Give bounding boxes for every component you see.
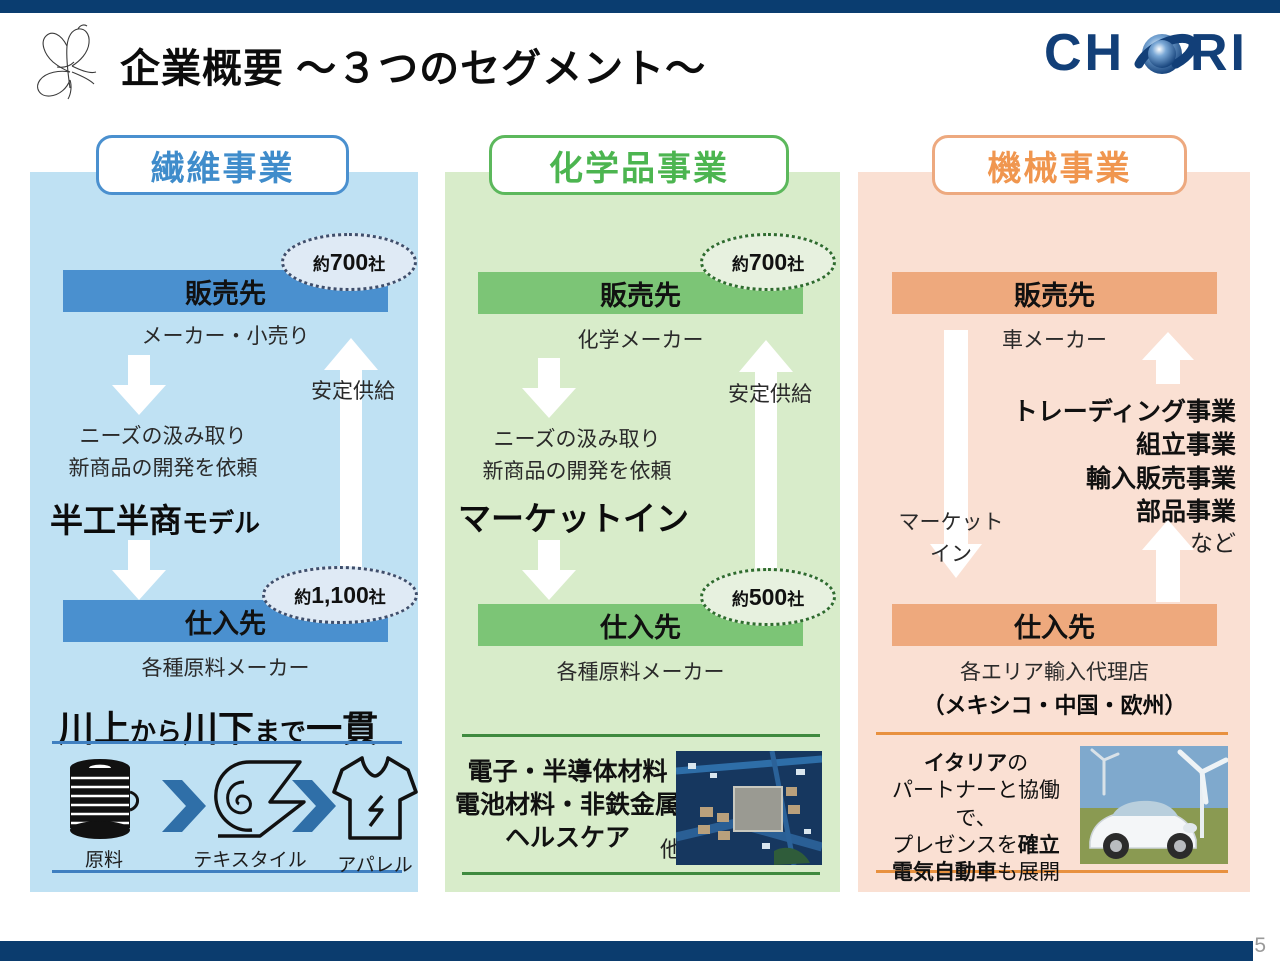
thread-spool-icon <box>62 756 146 847</box>
chemical-down-arrow-bottom <box>518 540 580 602</box>
machinery-rule-top <box>876 732 1228 735</box>
chemical-sales-count: 約700社 <box>700 233 836 291</box>
count-value: 700 <box>749 249 787 276</box>
count-prefix: 約 <box>732 250 749 275</box>
page-number: 5 <box>1254 934 1266 958</box>
chemical-down-arrow-top <box>518 358 580 420</box>
machinery-note: イタリアの パートナーと協働で、 プレゼンスを確立 電気自動車も展開 <box>872 750 1080 886</box>
count-unit: 社 <box>787 250 804 275</box>
count-unit: 社 <box>787 585 804 610</box>
machinery-up-arrow-bottom <box>1140 520 1196 602</box>
count-prefix: 約 <box>294 583 311 608</box>
electric-car-windmill-photo <box>1080 746 1228 864</box>
chemical-supplier-count: 約500社 <box>700 568 836 626</box>
textile-down-arrow-top <box>108 355 170 417</box>
textile-up-note: 安定供給 <box>283 375 423 405</box>
textile-model-main: 半工半商 <box>50 502 182 539</box>
machinery-sales-bar: 販売先 <box>892 272 1217 314</box>
textile-tagline: 川上から川下まで一貫 <box>58 700 378 752</box>
note-strong-3: 電気自動車 <box>892 861 997 884</box>
tshirt-icon <box>330 752 420 849</box>
svg-text:CH: CH <box>1044 26 1125 82</box>
textile-model: 半工半商モデル <box>50 494 260 542</box>
count-value: 700 <box>330 249 368 276</box>
chemical-down-note-1: ニーズの汲み取り <box>452 423 702 453</box>
top-accent-bar <box>0 0 1280 13</box>
chemical-rule-top <box>462 734 820 737</box>
count-prefix: 約 <box>313 250 330 275</box>
count-prefix: 約 <box>732 585 749 610</box>
chemical-supplier-sub: 各種原料メーカー <box>478 656 803 686</box>
note-rest-0: の <box>1007 752 1028 775</box>
chip-chemical: 化学品事業 <box>489 135 789 195</box>
textile-sales-count: 約700社 <box>281 233 417 291</box>
note-strong-0: イタリア <box>924 752 1007 775</box>
flow-label-0: 原料 <box>58 845 150 872</box>
note-rest-3: も展開 <box>997 861 1060 884</box>
svg-text:RI: RI <box>1190 26 1248 82</box>
chip-textile: 繊維事業 <box>96 135 349 195</box>
page-title: 企業概要 ～３つのセグメント～ <box>120 36 706 94</box>
count-value: 500 <box>749 584 787 611</box>
machinery-supplier-sub: 各エリア輸入代理店 <box>892 656 1217 686</box>
textile-supplier-count: 約1,100社 <box>262 566 418 624</box>
textile-down-note-1: ニーズの汲み取り <box>38 420 288 450</box>
textile-rule-top <box>52 741 402 744</box>
count-unit: 社 <box>369 583 386 608</box>
chemical-up-note: 安定供給 <box>700 378 840 408</box>
slide-root: 企業概要 ～３つのセグメント～ CH RI 繊維事業 販売先 メーカー・小売り … <box>0 0 1280 960</box>
textile-down-arrow-bottom <box>108 540 170 602</box>
note-line-2: プレゼンスを確立 <box>872 832 1080 859</box>
note-line-0: イタリアの <box>872 750 1080 777</box>
flow-label-2: アパレル <box>320 850 430 877</box>
note-rest-2: プレゼンスを <box>892 834 1018 857</box>
machinery-supplier-sub2: （メキシコ・中国・欧州） <box>892 688 1217 720</box>
product-line-0: 電子・半導体材料 <box>450 756 685 789</box>
chemical-products: 電子・半導体材料 電池材料・非鉄金属 ヘルスケア <box>450 756 685 855</box>
chip-machinery: 機械事業 <box>932 135 1187 195</box>
textile-model-suffix: モデル <box>182 508 260 538</box>
chemical-down-note-2: 新商品の開発を依頼 <box>452 455 702 485</box>
textile-supplier-sub: 各種原料メーカー <box>63 652 388 682</box>
machinery-marketin-1: マーケット <box>876 506 1026 536</box>
chemical-rule-bottom <box>462 872 820 875</box>
textile-down-note-2: 新商品の開発を依頼 <box>38 452 288 482</box>
machinery-supplier-bar: 仕入先 <box>892 604 1217 646</box>
note-line-3: 電気自動車も展開 <box>872 859 1080 886</box>
chevron-arrow-1 <box>158 778 210 839</box>
count-value: 1,100 <box>311 582 369 609</box>
product-line-1: 電池材料・非鉄金属 <box>450 789 685 822</box>
bottom-accent-bar <box>0 941 1253 961</box>
count-unit: 社 <box>368 250 385 275</box>
chori-logo: CH RI <box>1044 26 1254 82</box>
note-tail-2: 確立 <box>1018 834 1060 857</box>
note-line-1: パートナーと協働で、 <box>872 777 1080 832</box>
chemical-model: マーケットイン <box>458 492 689 540</box>
product-line-2: ヘルスケア <box>450 822 685 855</box>
circuit-board-photo <box>676 751 822 865</box>
machinery-marketin-2: イン <box>876 538 1026 568</box>
machinery-up-arrow-top <box>1140 332 1196 384</box>
butterfly-icon <box>26 22 118 100</box>
